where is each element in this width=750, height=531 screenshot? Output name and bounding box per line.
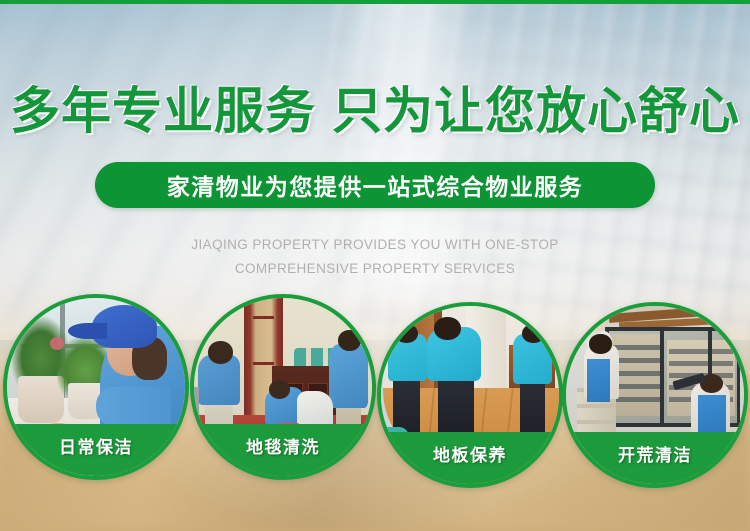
service-label-band: 地毯清洗 — [194, 424, 372, 476]
subtitle-line-2: COMPREHENSIVE PROPERTY SERVICES — [0, 257, 750, 281]
service-label-band: 开荒清洁 — [566, 432, 744, 484]
tagline-pill: 家清物业为您提供一站式综合物业服务 — [95, 162, 655, 208]
service-label-text: 开荒清洁 — [618, 441, 692, 466]
top-green-rule — [0, 0, 750, 4]
service-circle-floor-maintenance[interactable]: 地板保养 — [377, 302, 563, 488]
service-label-text: 日常保洁 — [59, 433, 133, 458]
page-title: 多年专业服务只为让您放心舒心 — [0, 83, 750, 139]
service-circle-daily-cleaning[interactable]: 日常保洁 — [3, 294, 189, 480]
service-label-band: 地板保养 — [381, 432, 559, 484]
service-circle-carpet-cleaning[interactable]: 地毯清洗 — [190, 294, 376, 480]
service-circles-row: 日常保洁 — [0, 292, 750, 492]
service-label-band: 日常保洁 — [7, 424, 185, 476]
service-label-text: 地板保养 — [433, 441, 507, 466]
tagline-text: 家清物业为您提供一站式综合物业服务 — [167, 168, 584, 202]
headline-part-1: 多年专业服务 — [10, 83, 316, 139]
service-circle-initial-cleaning[interactable]: 开荒清洁 — [562, 302, 748, 488]
subtitle-line-1: JIAQING PROPERTY PROVIDES YOU WITH ONE-S… — [191, 237, 558, 252]
headline-part-2: 只为让您放心舒心 — [332, 83, 740, 139]
subtitle-english: JIAQING PROPERTY PROVIDES YOU WITH ONE-S… — [0, 233, 750, 281]
service-label-text: 地毯清洗 — [246, 433, 320, 458]
promo-banner: 多年专业服务只为让您放心舒心 家清物业为您提供一站式综合物业服务 JIAQING… — [0, 0, 750, 531]
